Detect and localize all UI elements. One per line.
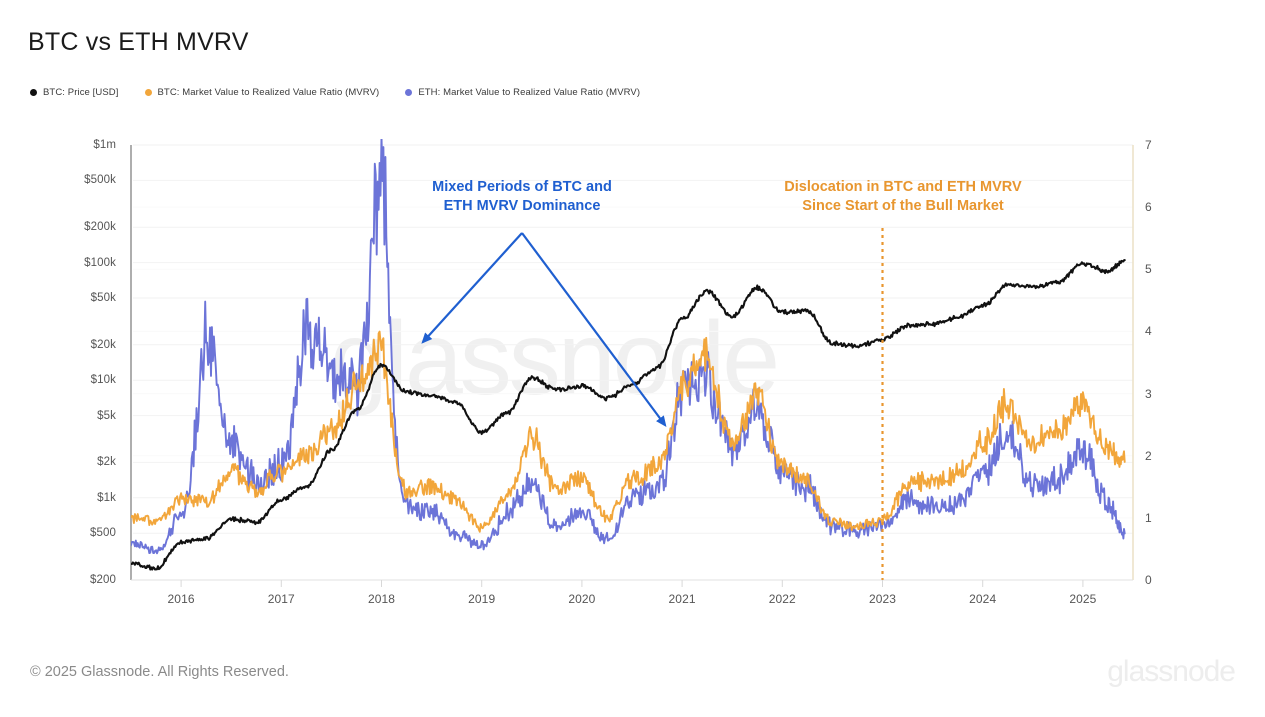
axis-label-y-right: 3 <box>1145 387 1175 401</box>
annotation-arrow-right <box>522 233 665 425</box>
axis-label-y-left: $50k <box>42 292 116 304</box>
annotation-arrow-left <box>423 233 522 342</box>
axis-label-x: 2025 <box>1048 592 1118 606</box>
footer-copyright: © 2025 Glassnode. All Rights Reserved. <box>30 664 289 680</box>
axis-label-y-right: 4 <box>1145 324 1175 338</box>
axis-label-x: 2024 <box>948 592 1018 606</box>
axis-label-x: 2017 <box>246 592 316 606</box>
annotation-right: Dislocation in BTC and ETH MVRV Since St… <box>762 178 1044 216</box>
axis-label-y-right: 6 <box>1145 200 1175 214</box>
annotation-right-line2: Since Start of the Bull Market <box>762 197 1044 216</box>
axis-label-x: 2016 <box>146 592 216 606</box>
axis-label-y-left: $500k <box>42 174 116 186</box>
axis-label-y-right: 7 <box>1145 138 1175 152</box>
brand-logo: glassnode <box>1107 655 1235 689</box>
axis-label-y-left: $200 <box>42 574 116 586</box>
axis-label-y-left: $10k <box>42 374 116 386</box>
axis-label-y-left: $1m <box>42 139 116 151</box>
axis-label-x: 2018 <box>347 592 417 606</box>
axis-label-y-left: $500 <box>42 527 116 539</box>
axis-label-y-left: $2k <box>42 456 116 468</box>
chart-canvas: 2016201720182019202020212022202320242025… <box>0 0 1265 712</box>
annotation-left: Mixed Periods of BTC and ETH MVRV Domina… <box>412 178 632 216</box>
axis-label-y-left: $1k <box>42 492 116 504</box>
annotation-left-line1: Mixed Periods of BTC and <box>412 178 632 197</box>
axis-label-y-left: $200k <box>42 221 116 233</box>
axis-label-y-right: 1 <box>1145 511 1175 525</box>
axis-label-y-right: 0 <box>1145 573 1175 587</box>
axis-label-y-right: 2 <box>1145 449 1175 463</box>
series-line-btc-price <box>131 260 1125 569</box>
annotation-right-line1: Dislocation in BTC and ETH MVRV <box>762 178 1044 197</box>
annotation-left-line2: ETH MVRV Dominance <box>412 197 632 216</box>
axis-label-y-left: $5k <box>42 410 116 422</box>
axis-label-y-left: $100k <box>42 257 116 269</box>
axis-label-x: 2022 <box>747 592 817 606</box>
axis-label-x: 2020 <box>547 592 617 606</box>
axis-label-y-right: 5 <box>1145 262 1175 276</box>
axis-label-x: 2019 <box>447 592 517 606</box>
axis-label-y-left: $20k <box>42 339 116 351</box>
axis-label-x: 2023 <box>848 592 918 606</box>
axis-label-x: 2021 <box>647 592 717 606</box>
